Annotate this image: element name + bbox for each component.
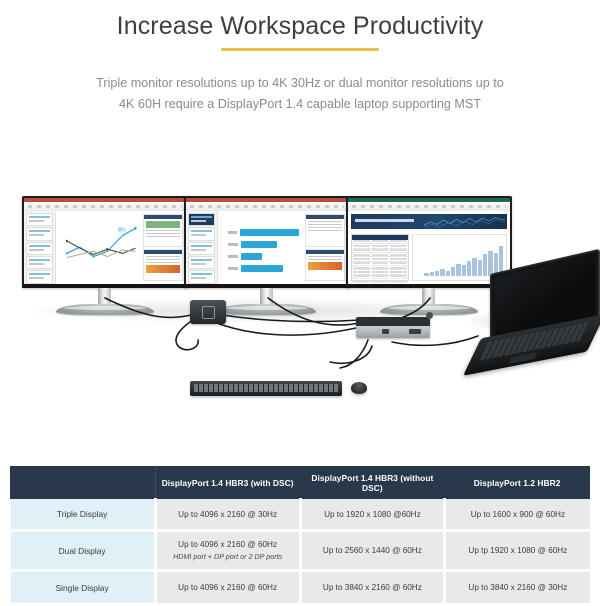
table-corner-cell — [11, 467, 156, 499]
table-row-single-display: Single Display Up to 4096 x 2160 @ 60Hz … — [11, 571, 590, 605]
row-label-dual-display: Dual Display — [11, 531, 156, 571]
cell-single-dp12: Up to 3840 x 2160 @ 30Hz — [445, 571, 590, 605]
cell-single-dp14-dsc: Up to 4096 x 2160 @ 60Hz — [155, 571, 300, 605]
table-header: DisplayPort 1.4 HBR3 (with DSC) DisplayP… — [11, 467, 590, 499]
cell-dual-dp14-dsc-note: HDMI port + DP port or 2 DP ports — [157, 551, 299, 562]
column-header-dp12-hbr2: DisplayPort 1.2 HBR2 — [445, 467, 590, 499]
product-infographic-page: Increase Workspace Productivity Triple m… — [0, 0, 600, 600]
cell-triple-dp12: Up to 1600 x 900 @ 60Hz — [445, 499, 590, 531]
desktop-mouse — [351, 382, 367, 394]
subtitle-line-1: Triple monitor resolutions up to 4K 30Hz… — [96, 76, 504, 90]
page-subtitle: Triple monitor resolutions up to 4K 30Hz… — [65, 73, 535, 115]
row-label-triple-display: Triple Display — [11, 499, 156, 531]
desktop-keyboard — [190, 381, 342, 396]
keyboard-keys — [194, 384, 338, 392]
cell-dual-dp12: Up tp 1920 x 1080 @ 60Hz — [445, 531, 590, 571]
title-underline — [221, 48, 379, 51]
table-body: Triple Display Up to 4096 x 2160 @ 30Hz … — [11, 499, 590, 605]
dock-antenna-nub — [426, 312, 433, 319]
hero-product-image: 88% — [0, 170, 600, 440]
resolution-spec-table: DisplayPort 1.4 HBR3 (with DSC) DisplayP… — [10, 466, 590, 606]
cell-triple-dp14-dsc: Up to 4096 x 2160 @ 30Hz — [155, 499, 300, 531]
page-title: Increase Workspace Productivity — [0, 10, 600, 42]
cell-dual-dp14-dsc: Up to 4096 x 2160 @ 60Hz HDMI port + DP … — [155, 531, 300, 571]
table-header-row: DisplayPort 1.4 HBR3 (with DSC) DisplayP… — [11, 467, 590, 499]
row-label-single-display: Single Display — [11, 571, 156, 605]
cell-dual-dp14-nodsc: Up to 2560 x 1440 @ 60Hz — [300, 531, 445, 571]
column-header-dp14-with-dsc: DisplayPort 1.4 HBR3 (with DSC) — [155, 467, 300, 499]
column-header-dp14-without-dsc: DisplayPort 1.4 HBR3 (without DSC) — [300, 467, 445, 499]
subtitle-line-2: 4K 60H require a DisplayPort 1.4 capable… — [119, 97, 481, 111]
table-row-triple-display: Triple Display Up to 4096 x 2160 @ 30Hz … — [11, 499, 590, 531]
dock-usb-port — [409, 329, 421, 334]
cell-triple-dp14-nodsc: Up to 1920 x 1080 @60Hz — [300, 499, 445, 531]
dock-port — [382, 329, 389, 334]
docking-station — [356, 317, 430, 338]
cell-dual-dp14-dsc-main: Up to 4096 x 2160 @ 60Hz — [178, 540, 277, 549]
table-row-dual-display: Dual Display Up to 4096 x 2160 @ 60Hz HD… — [11, 531, 590, 571]
cable-puck-adapter — [190, 300, 226, 324]
cell-single-dp14-nodsc: Up to 3840 x 2160 @ 60Hz — [300, 571, 445, 605]
header: Increase Workspace Productivity Triple m… — [0, 0, 600, 115]
